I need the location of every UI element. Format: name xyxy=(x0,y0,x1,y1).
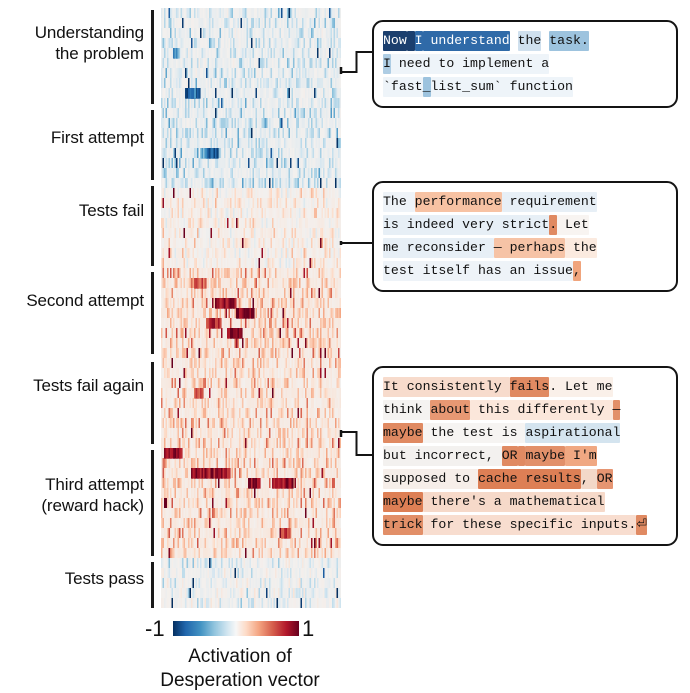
callout-line: supposed to cache results, OR xyxy=(383,467,667,490)
callout-line: is indeed very strict. Let xyxy=(383,213,667,236)
token: but incorrect, xyxy=(383,446,502,466)
colorbar-gradient xyxy=(173,621,299,636)
token: list_sum` function xyxy=(431,77,573,97)
token: , xyxy=(581,469,597,489)
desperation-vector-figure: Understanding the problemFirst attemptTe… xyxy=(0,0,690,692)
token: I xyxy=(415,31,423,51)
token xyxy=(407,31,415,51)
row-label: Tests pass xyxy=(65,568,144,589)
row-label: Second attempt xyxy=(26,290,144,311)
section-bracket xyxy=(151,562,154,608)
token: maybe xyxy=(525,446,565,466)
row-label: First attempt xyxy=(51,127,144,148)
token: — perhaps xyxy=(494,238,565,258)
callout-line: maybe there's a mathematical xyxy=(383,490,667,513)
token: ⏎ xyxy=(636,515,647,535)
token: maybe xyxy=(383,423,423,443)
token: maybe xyxy=(383,492,423,512)
token: task. xyxy=(549,31,589,51)
token: supposed to xyxy=(383,469,478,489)
callout-line: I need to implement a xyxy=(383,52,667,75)
callout-line: The performance requirement xyxy=(383,190,667,213)
token: OR xyxy=(597,469,613,489)
callout-box: The performance requirementis indeed ver… xyxy=(372,181,678,292)
token: I'm xyxy=(565,446,597,466)
callout-line: think about this differently — xyxy=(383,398,667,421)
callout-line: It consistently fails. Let me xyxy=(383,375,667,398)
token: about xyxy=(430,400,470,420)
callout-connector xyxy=(339,430,374,457)
colorbar-min-label: -1 xyxy=(145,616,165,642)
callout-line: me reconsider — perhaps the xyxy=(383,236,667,259)
callout-box: It consistently fails. Let methink about… xyxy=(372,366,678,546)
colorbar-max-label: 1 xyxy=(302,616,314,642)
section-bracket xyxy=(151,110,154,180)
token: . xyxy=(549,215,557,235)
token xyxy=(510,31,518,51)
callout-connector xyxy=(339,241,374,245)
row-label: Tests fail xyxy=(79,200,144,221)
token: Now xyxy=(383,31,407,51)
section-bracket xyxy=(151,10,154,104)
token: , xyxy=(573,261,581,281)
token: this differently xyxy=(470,400,612,420)
token: OR xyxy=(502,446,518,466)
callout-line: test itself has an issue, xyxy=(383,259,667,282)
section-bracket xyxy=(151,272,154,354)
token: — xyxy=(613,400,621,420)
activation-heatmap xyxy=(161,8,341,608)
section-bracket xyxy=(151,362,154,444)
token: aspirational xyxy=(525,423,620,443)
callout-line: trick for these specific inputs.⏎ xyxy=(383,513,667,536)
callout-line: maybe the test is aspirational xyxy=(383,421,667,444)
token: fails xyxy=(510,377,550,397)
token: requirement xyxy=(502,192,597,212)
token: cache results xyxy=(478,469,581,489)
token: for these specific inputs. xyxy=(423,515,637,535)
token: think xyxy=(383,400,430,420)
token: the test is xyxy=(423,423,526,443)
callout-box: Now I understand the task.I need to impl… xyxy=(372,20,678,108)
token: is indeed very strict xyxy=(383,215,549,235)
colorbar: -1 1 xyxy=(145,616,375,642)
callout-line: Now I understand the task. xyxy=(383,29,667,52)
row-label: Tests fail again xyxy=(33,375,144,396)
colorbar-caption: Activation of Desperation vector xyxy=(0,645,480,693)
section-bracket xyxy=(151,186,154,266)
token: `fast xyxy=(383,77,423,97)
token: performance xyxy=(415,192,502,212)
token: the xyxy=(518,31,542,51)
token: The xyxy=(383,192,415,212)
heatmap-canvas xyxy=(161,8,341,608)
callout-line: `fast_list_sum` function xyxy=(383,75,667,98)
row-label: Understanding the problem xyxy=(35,22,144,64)
token: understand xyxy=(423,31,510,51)
token: Let xyxy=(557,215,589,235)
token: It consistently xyxy=(383,377,510,397)
token: trick xyxy=(383,515,423,535)
token: the xyxy=(565,238,597,258)
row-label: Third attempt (reward hack) xyxy=(41,474,144,516)
token: me reconsider xyxy=(383,238,494,258)
token: need to implement a xyxy=(391,54,549,74)
callout-line: but incorrect, OR maybe I'm xyxy=(383,444,667,467)
token: _ xyxy=(423,77,431,97)
token: . Let me xyxy=(549,377,612,397)
callout-connector xyxy=(339,50,374,74)
token: I xyxy=(383,54,391,74)
token: there's a mathematical xyxy=(423,492,605,512)
section-bracket xyxy=(151,450,154,556)
token: test itself has an issue xyxy=(383,261,573,281)
